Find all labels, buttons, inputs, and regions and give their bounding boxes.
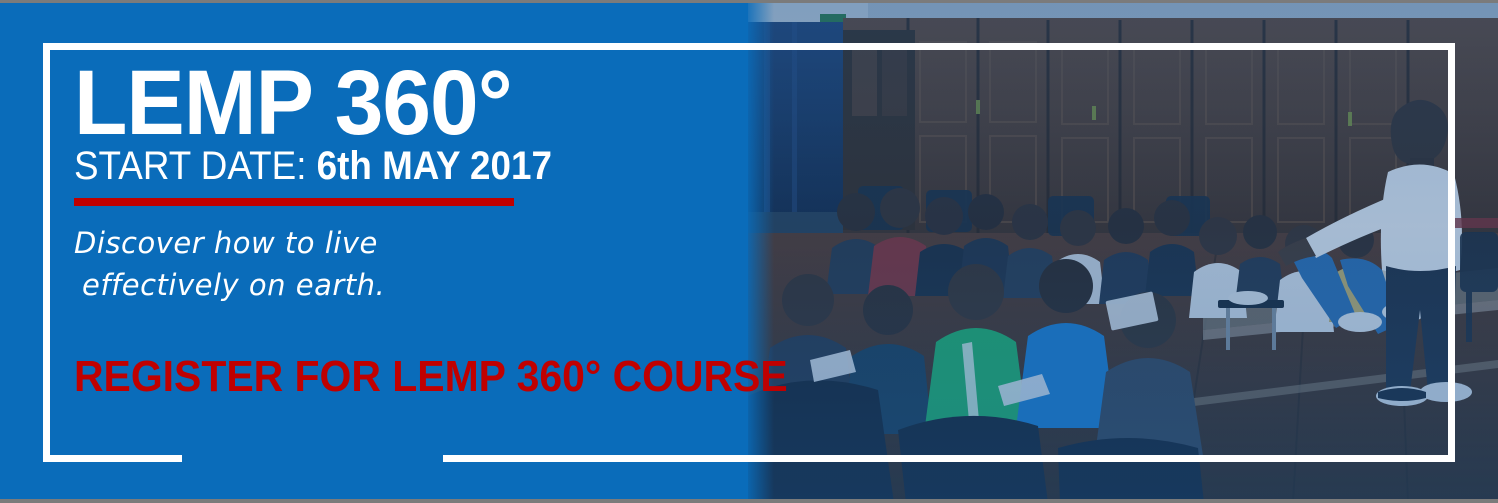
red-divider-rule bbox=[74, 198, 514, 206]
bottom-hairline bbox=[0, 499, 1498, 503]
banner-tagline: Discover how to live effectively on eart… bbox=[74, 222, 385, 306]
register-cta-text[interactable]: REGISTER FOR LEMP 360° COURSE bbox=[74, 354, 788, 400]
lecture-hall-illustration bbox=[748, 0, 1498, 503]
banner-text-content: LEMP 360° START DATE: 6th MAY 2017 Disco… bbox=[74, 0, 734, 503]
start-date-line: START DATE: 6th MAY 2017 bbox=[74, 145, 552, 187]
lemp-360-promo-banner: LEMP 360° START DATE: 6th MAY 2017 Disco… bbox=[0, 0, 1498, 503]
top-hairline bbox=[0, 0, 1498, 3]
tagline-line-2: effectively on earth. bbox=[74, 264, 385, 306]
start-date-value: 6th MAY 2017 bbox=[317, 144, 552, 188]
banner-headline: LEMP 360° bbox=[74, 57, 512, 149]
start-date-label: START DATE: bbox=[74, 144, 306, 188]
lecture-hall-photo bbox=[748, 0, 1498, 503]
tagline-line-1: Discover how to live bbox=[74, 222, 385, 264]
